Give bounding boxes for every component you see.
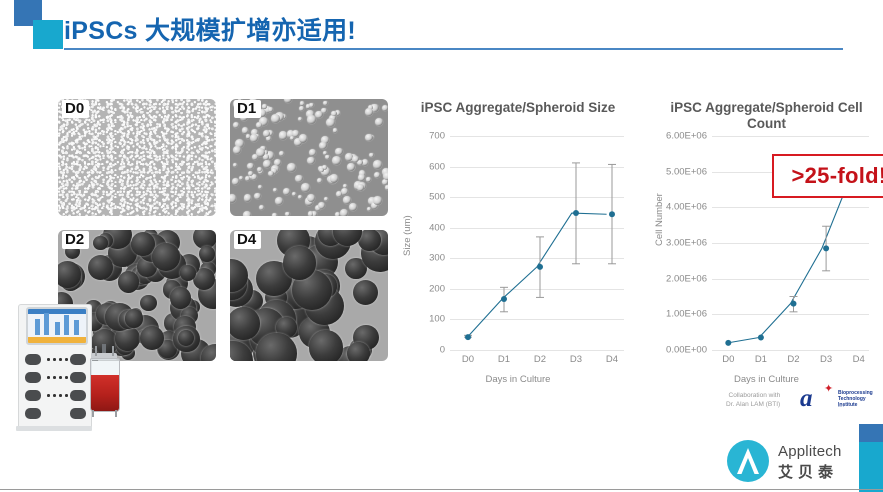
chart-xtick: D3 — [558, 354, 594, 365]
panel-dot — [59, 358, 62, 361]
chart-xtick: D0 — [450, 354, 486, 365]
chart-plot-area-size: 0100200300400500600700 — [450, 136, 630, 350]
chart-ytick: 1.00E+06 — [666, 309, 707, 320]
chart-xtick: D4 — [594, 354, 630, 365]
chart-xtick: D1 — [745, 354, 778, 365]
chart-data-point — [609, 211, 615, 217]
chart-gridline — [450, 350, 624, 351]
micrograph-label-d2: D2 — [62, 231, 89, 249]
header-divider — [64, 48, 843, 50]
bioreactor-system-image — [4, 298, 124, 434]
footer-divider — [0, 489, 883, 490]
chart-data-point — [573, 210, 579, 216]
screen-bar-2 — [44, 313, 49, 335]
vessel-leg-2 — [115, 410, 117, 417]
chart-ytick: 5.00E+06 — [666, 166, 707, 177]
chart-plot-area-count: 0.00E+001.00E+062.00E+063.00E+064.00E+06… — [712, 136, 875, 350]
vessel-leg-1 — [92, 410, 94, 417]
chart-xaxis-count: D0D1D2D3D4 — [712, 354, 875, 365]
chart-series-size — [450, 136, 624, 350]
chart-ytick: 6.00E+06 — [666, 131, 707, 142]
chart-xlabel-size: Days in Culture — [398, 374, 638, 385]
panel-dot — [65, 358, 68, 361]
chart-data-point — [537, 264, 543, 270]
brand-name-cn: 艾贝泰 — [778, 461, 838, 482]
chart-xtick: D1 — [486, 354, 522, 365]
header-accent-square-cyan — [33, 20, 63, 49]
pump-head-6 — [70, 390, 86, 401]
controller-base — [16, 426, 92, 431]
panel-dot — [53, 394, 56, 397]
chart-ytick: 700 — [429, 131, 445, 142]
chart-xtick: D4 — [842, 354, 875, 365]
footer-accent-cyan — [859, 442, 883, 492]
applitech-mark-icon — [726, 439, 770, 483]
panel-dot — [53, 358, 56, 361]
chart-xtick: D3 — [810, 354, 843, 365]
collaboration-line-1: Collaboration with — [726, 391, 780, 400]
chart-data-point — [725, 340, 731, 346]
page-title: iPSCs 大规模扩增亦适用! — [64, 11, 356, 47]
chart-data-point — [758, 335, 764, 341]
pump-head-4 — [70, 372, 86, 383]
panel-dot — [59, 394, 62, 397]
collaboration-line-2: Dr. Alan LAM (BTI) — [726, 400, 780, 409]
panel-dot — [47, 358, 50, 361]
panel-dot — [53, 376, 56, 379]
panel-dot — [59, 376, 62, 379]
screen-status-bar — [28, 337, 86, 343]
chart-title-count: iPSC Aggregate/Spheroid Cell Count — [650, 96, 883, 132]
bti-logo-letter: a — [800, 386, 813, 411]
micrograph-label-d1: D1 — [234, 100, 261, 118]
chart-ytick: 0 — [440, 345, 445, 356]
chart-data-point — [791, 301, 797, 307]
panel-dot — [65, 394, 68, 397]
chart-ytick: 2.00E+06 — [666, 273, 707, 284]
micrograph-d4 — [230, 230, 388, 361]
chart-ytick: 4.00E+06 — [666, 202, 707, 213]
vessel-port-2 — [112, 346, 114, 356]
chart-data-point — [823, 245, 829, 251]
micrograph-d4-texture — [230, 230, 388, 361]
chart-ylabel-size: Size (um) — [402, 215, 413, 256]
chart-ytick: 0.00E+00 — [666, 345, 707, 356]
chart-ytick: 500 — [429, 192, 445, 203]
collaboration-credit: Collaboration with Dr. Alan LAM (BTI) — [726, 391, 780, 409]
vessel-port-1 — [95, 346, 97, 356]
chart-xaxis-size: D0D1D2D3D4 — [450, 354, 630, 365]
chart-xtick: D0 — [712, 354, 745, 365]
pump-head-3 — [25, 372, 41, 383]
chart-cell-count: iPSC Aggregate/Spheroid Cell Count Cell … — [650, 96, 883, 364]
screen-bar-3 — [55, 322, 60, 335]
panel-dot — [47, 394, 50, 397]
chart-xtick: D2 — [777, 354, 810, 365]
bioreactor-vessel — [88, 344, 120, 416]
chart-ytick: 100 — [429, 314, 445, 325]
footer-accent-dark — [859, 424, 883, 442]
chart-ytick: 200 — [429, 283, 445, 294]
chart-ytick: 400 — [429, 222, 445, 233]
panel-dot — [65, 376, 68, 379]
pump-head-2 — [70, 354, 86, 365]
culture-medium — [91, 375, 119, 411]
star-icon: ✦ — [824, 384, 833, 395]
screen-bar-1 — [35, 319, 40, 335]
bti-logo-abbr: BTI — [838, 403, 844, 408]
screen-bar-4 — [64, 315, 69, 335]
chart-gridline — [712, 350, 869, 351]
screen-bar-5 — [74, 320, 79, 335]
chart-ylabel-count: Cell Number — [654, 193, 665, 246]
screen-title-bar — [28, 309, 86, 314]
micrograph-label-d0: D0 — [62, 100, 89, 118]
chart-data-point — [501, 296, 507, 302]
micrograph-label-d4: D4 — [234, 231, 261, 249]
brand-name-en: Applitech — [778, 443, 842, 460]
chart-ytick: 3.00E+06 — [666, 238, 707, 249]
chart-xtick: D2 — [522, 354, 558, 365]
bioreactor-touchscreen — [26, 307, 88, 345]
pump-head-7 — [25, 408, 41, 419]
chart-ytick: 600 — [429, 161, 445, 172]
chart-title-size: iPSC Aggregate/Spheroid Size — [398, 96, 638, 116]
fold-increase-badge: >25-fold! — [772, 154, 883, 198]
pump-head-1 — [25, 354, 41, 365]
chart-ytick: 300 — [429, 253, 445, 264]
applitech-logo: Applitech 艾贝泰 — [726, 437, 856, 485]
pump-head-8 — [70, 408, 86, 419]
bti-logo: a ✦ Bioprocessing Technology Institute B… — [798, 384, 878, 414]
chart-data-point — [465, 334, 471, 340]
vessel-glass — [90, 358, 120, 412]
chart-spheroid-size: iPSC Aggregate/Spheroid Size Size (um) 0… — [398, 96, 638, 364]
panel-dot — [47, 376, 50, 379]
pump-head-5 — [25, 390, 41, 401]
